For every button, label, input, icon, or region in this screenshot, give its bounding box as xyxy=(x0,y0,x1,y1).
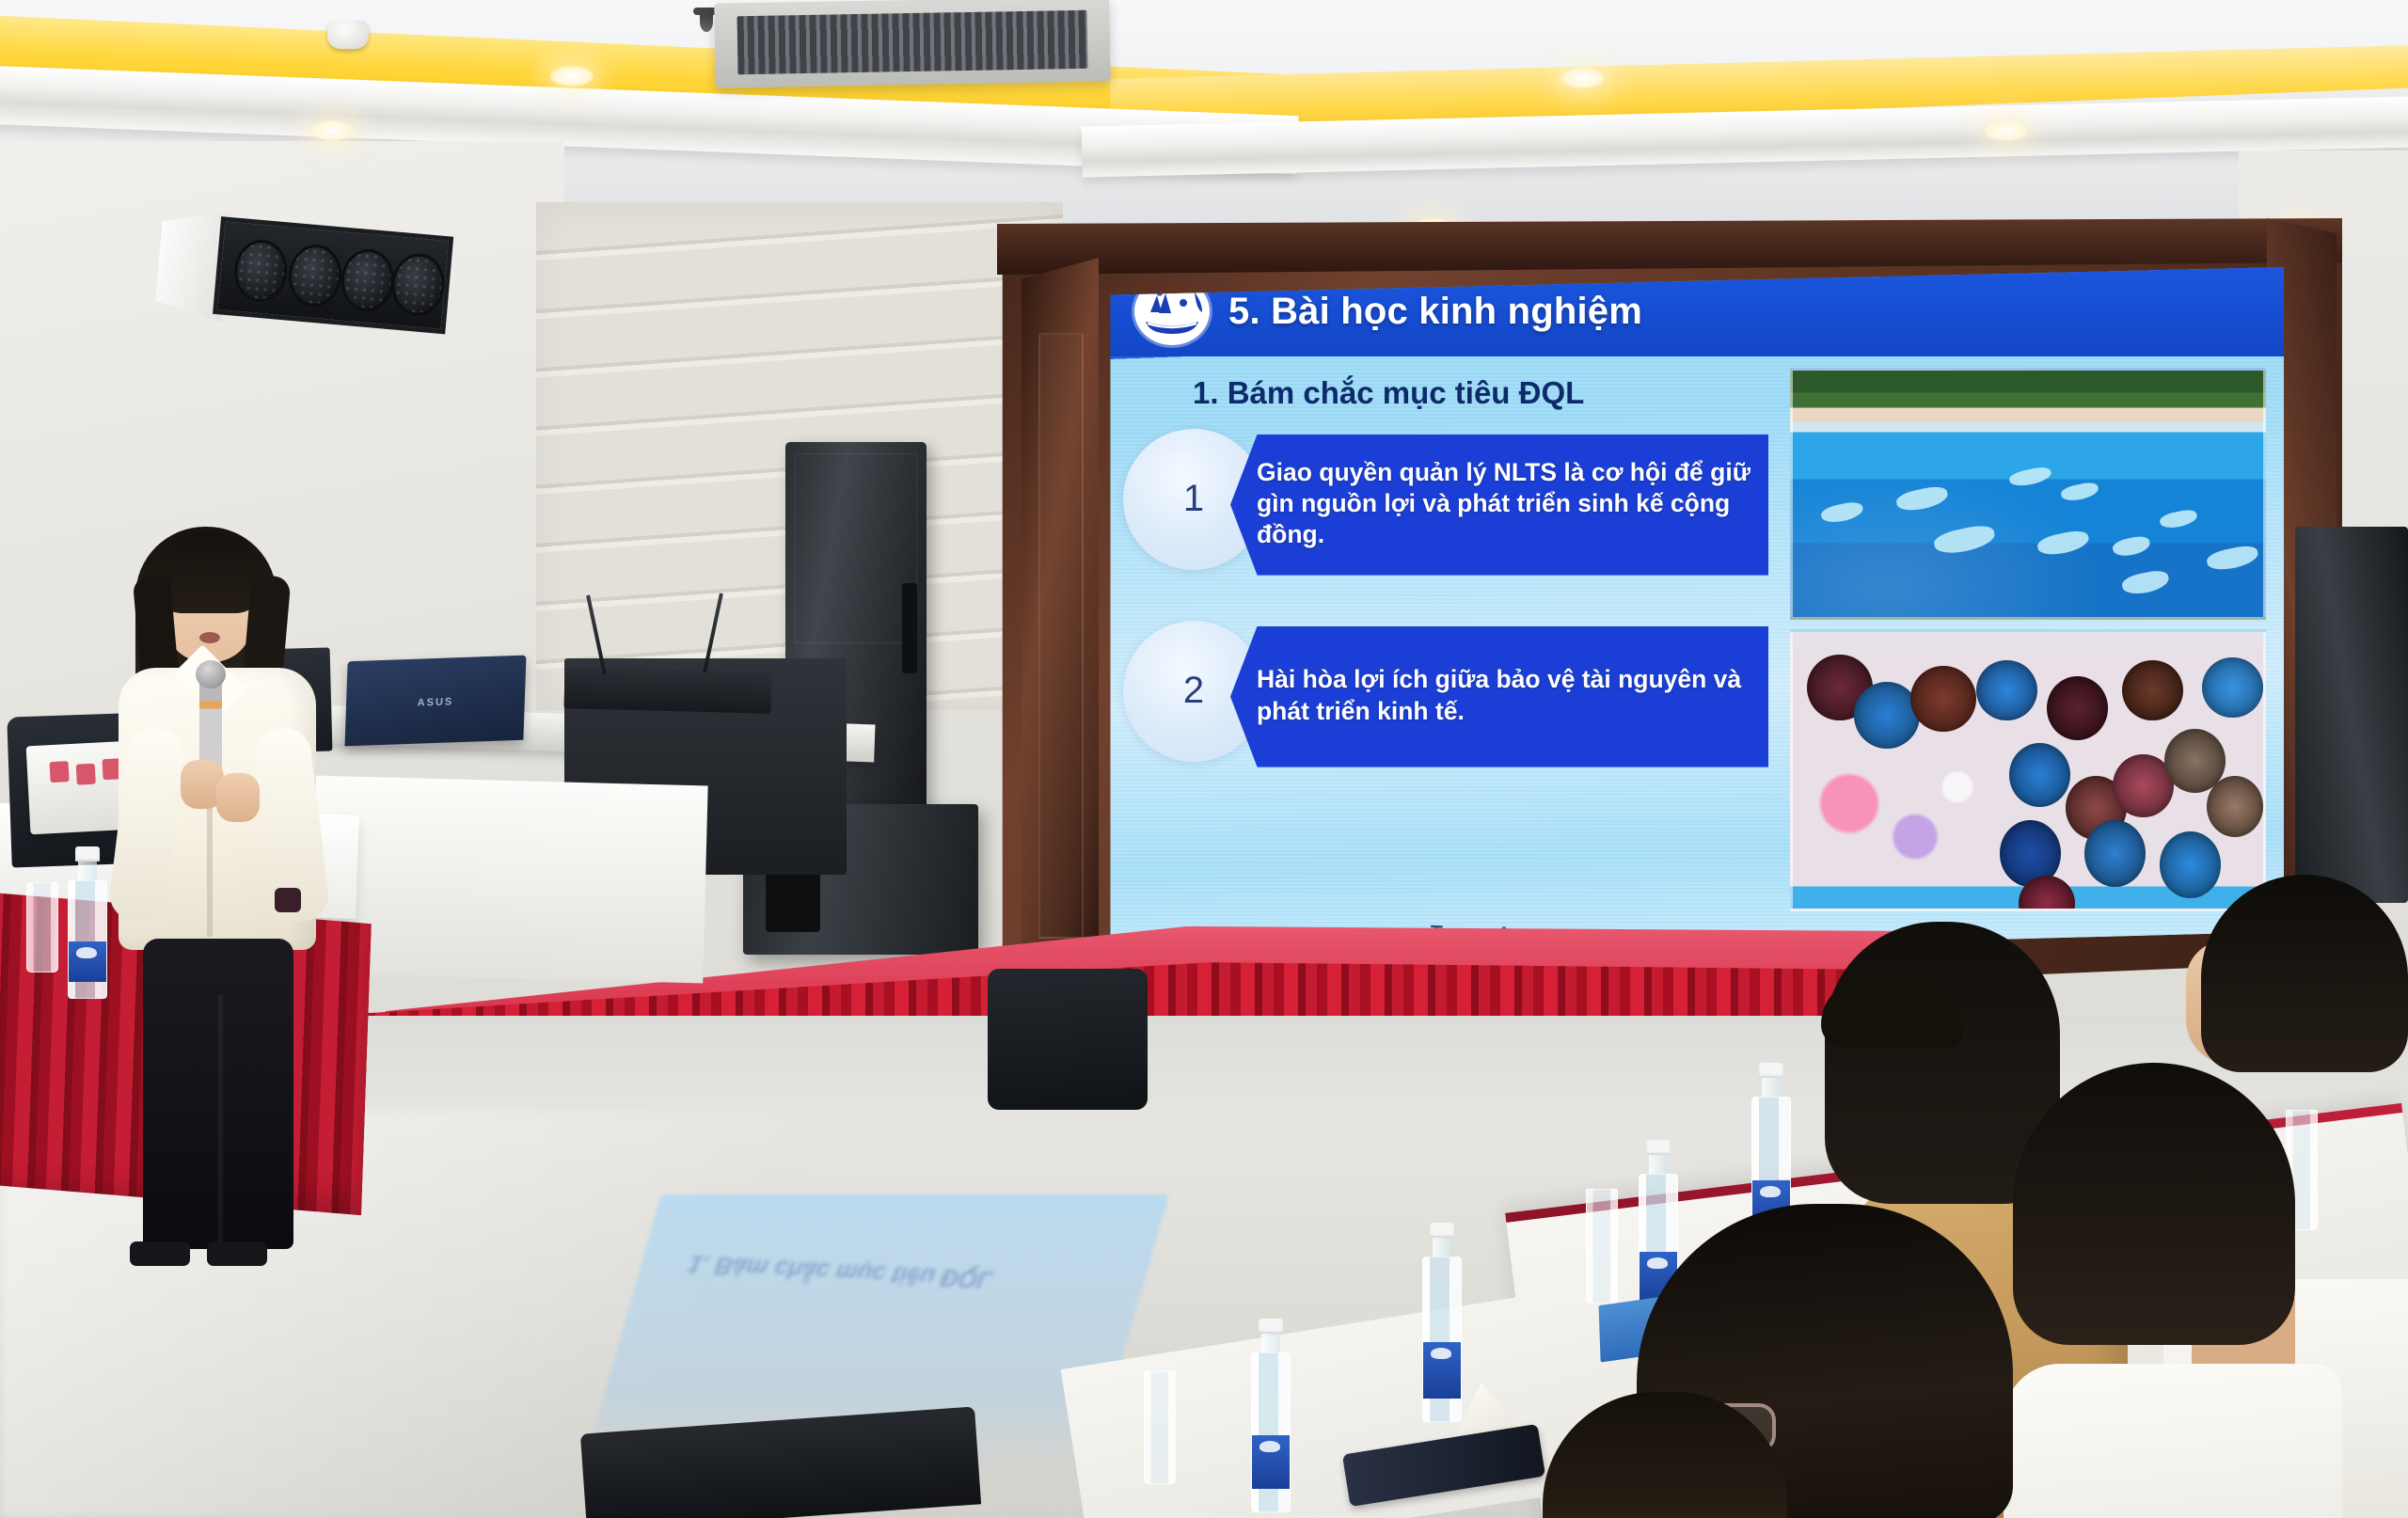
presenter-trousers xyxy=(143,939,293,1249)
sprinkler-icon xyxy=(700,11,713,32)
par-lamp-icon xyxy=(231,238,290,305)
laptop-brand-label: ASUS xyxy=(417,697,453,709)
screen-frame-left-pillar xyxy=(1022,258,1099,972)
right-speaker xyxy=(2295,527,2408,903)
asus-laptop[interactable]: ASUS xyxy=(344,656,526,747)
presenter-shoe xyxy=(130,1241,190,1266)
water-bottle xyxy=(1251,1319,1291,1512)
wristwatch xyxy=(275,888,301,912)
water-bottle xyxy=(1422,1223,1462,1422)
downlight-icon xyxy=(310,120,354,141)
led-screen-panel: 5. Bài học kinh nghiệm 1. Bám chắc mục t… xyxy=(1108,267,2284,963)
slide-photo-column xyxy=(1790,368,2266,911)
chair xyxy=(988,969,1148,1110)
presenter-shoe xyxy=(207,1241,267,1266)
presenter-mouth xyxy=(199,632,220,643)
downlight-icon xyxy=(550,66,594,87)
par-lamp-icon xyxy=(339,247,397,314)
bullet-text: Hài hòa lợi ích giữa bảo vệ tài nguyên v… xyxy=(1230,626,1768,767)
drinking-glass xyxy=(26,882,58,972)
reflected-slide-text: 1. Bám chắc mục tiêu ĐQL xyxy=(684,1250,1101,1301)
bullet-text: Giao quyền quản lý NLTS là cơ hội để giữ… xyxy=(1230,435,1768,576)
slide-subtitle: 1. Bám chắc mục tiêu ĐQL xyxy=(1193,375,1584,411)
led-screen-assembly: 5. Bài học kinh nghiệm 1. Bám chắc mục t… xyxy=(997,218,2342,1018)
downlight-icon xyxy=(1561,68,1605,88)
par-lamp-icon xyxy=(286,243,344,309)
ceiling-ac-cassette xyxy=(714,0,1111,88)
presenter-hand xyxy=(216,773,260,822)
list-item: 1 Giao quyền quản lý NLTS là cơ hội để g… xyxy=(1117,435,1776,585)
light-box-cage xyxy=(213,216,453,334)
drinking-glass xyxy=(1144,1371,1176,1484)
slide-title: 5. Bài học kinh nghiệm xyxy=(1228,291,1642,333)
audience-person-back-of-head xyxy=(1543,1392,1787,1518)
photo-coastal-bay-fishing-boats xyxy=(1790,368,2266,620)
ac-grille xyxy=(737,10,1087,74)
photo-basket-boats-on-beach xyxy=(1790,629,2266,911)
conference-room-scene: 5. Bài học kinh nghiệm 1. Bám chắc mục t… xyxy=(0,0,2408,1518)
downlight-icon xyxy=(1985,120,2028,141)
speaker-handle xyxy=(902,583,917,673)
par-lamp-icon xyxy=(389,251,448,318)
handheld-microphone xyxy=(199,673,222,771)
wireless-microphone-receiver[interactable] xyxy=(563,667,771,714)
presentation-slide: 5. Bài học kinh nghiệm 1. Bám chắc mục t… xyxy=(1108,267,2284,963)
presenter xyxy=(113,527,357,1279)
smoke-detector-icon xyxy=(327,21,369,49)
drinking-glass xyxy=(1586,1189,1618,1304)
list-item: 2 Hài hòa lợi ích giữa bảo vệ tài nguyên… xyxy=(1117,626,1776,777)
audience-man-white-shirt-front xyxy=(2013,1063,2323,1518)
slide-bullet-list: 1 Giao quyền quản lý NLTS là cơ hội để g… xyxy=(1117,435,1776,818)
water-bottle xyxy=(68,846,107,999)
